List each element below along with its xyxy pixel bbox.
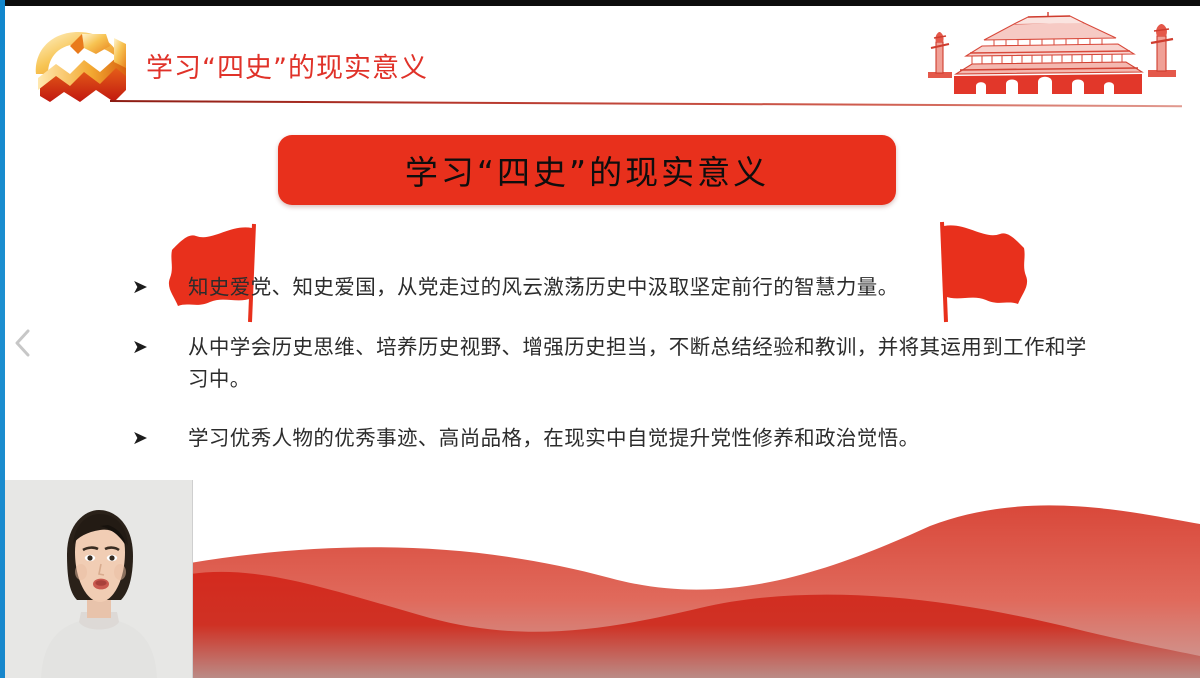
list-item: ➤ 从中学会历史思维、培养历史视野、增强历史担当，不断总结经验和教训，并将其运用… <box>132 332 1092 396</box>
header-title: 学习“四史”的现实意义 <box>146 46 428 85</box>
list-item: ➤ 学习优秀人物的优秀事迹、高尚品格，在现实中自觉提升党性修养和政治觉悟。 <box>132 423 1092 455</box>
list-item: ➤ 知史爱党、知史爱国，从党走过的风云激荡历史中汲取坚定前行的智慧力量。 <box>132 272 1092 304</box>
bullet-list: ➤ 知史爱党、知史爱国，从党走过的风云激荡历史中汲取坚定前行的智慧力量。 ➤ 从… <box>132 272 1092 455</box>
slide-viewer: 学习“四史”的现实意义 <box>0 0 1200 678</box>
player-top-bar <box>0 0 1200 6</box>
chevron-left-icon[interactable] <box>6 320 40 366</box>
list-item-text: 知史爱党、知史爱国，从党走过的风云激荡历史中汲取坚定前行的智慧力量。 <box>188 272 1092 304</box>
arrow-bullet-icon: ➤ <box>132 332 188 357</box>
arrow-bullet-icon: ➤ <box>132 272 188 297</box>
banner-title: 学习“四史”的现实意义 <box>405 146 769 194</box>
party-emblem-icon <box>26 24 138 110</box>
tiananmen-gate-icon <box>910 12 1192 108</box>
arrow-bullet-icon: ➤ <box>132 423 188 448</box>
list-item-text: 学习优秀人物的优秀事迹、高尚品格，在现实中自觉提升党性修养和政治觉悟。 <box>188 423 1092 455</box>
presenter-video-thumbnail[interactable] <box>5 480 193 678</box>
slide-header: 学习“四史”的现实意义 <box>0 6 1200 110</box>
slide-title-banner: 学习“四史”的现实意义 <box>0 110 1200 228</box>
player-left-rail <box>0 0 5 678</box>
banner-box: 学习“四史”的现实意义 <box>278 135 896 205</box>
list-item-text: 从中学会历史思维、培养历史视野、增强历史担当，不断总结经验和教训，并将其运用到工… <box>188 332 1092 396</box>
